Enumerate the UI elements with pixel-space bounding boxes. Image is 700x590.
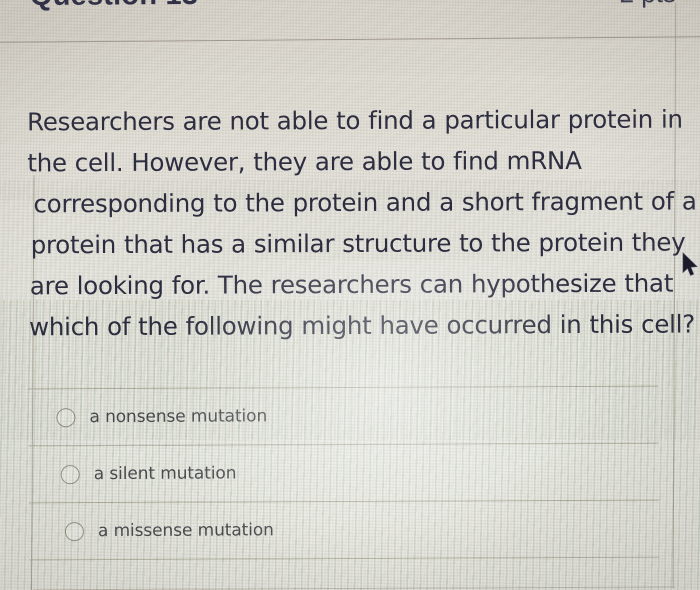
answer-option-nonsense-mutation[interactable]: a nonsense mutation (28, 386, 658, 446)
answer-options-list: a nonsense mutation a silent mutation a … (28, 386, 659, 561)
answer-option-missense-mutation[interactable]: a missense mutation (29, 500, 659, 561)
answer-option-label: a missense mutation (98, 520, 274, 541)
question-line: protein that has a similar structure to … (28, 222, 668, 266)
answer-option-label: a nonsense mutation (89, 406, 267, 427)
question-card: Researchers are not able to find a parti… (5, 43, 677, 590)
card-border-bottom (33, 587, 675, 590)
question-line: Researchers are not able to find a parti… (27, 99, 667, 143)
question-line: corresponding to the protein and a short… (27, 181, 667, 225)
question-prompt: Researchers are not able to find a parti… (27, 99, 668, 348)
radio-unchecked-icon[interactable] (61, 465, 80, 484)
screen-photo: Question 13 2 pts Researchers are not ab… (0, 0, 700, 590)
question-line: which of the following might have occurr… (28, 304, 668, 348)
question-line: the cell. However, they are able to find… (27, 140, 667, 184)
card-border-right (673, 3, 677, 589)
question-number-label: Question 13 (30, 0, 198, 13)
question-line: are looking for. The researchers can hyp… (28, 263, 668, 307)
radio-unchecked-icon[interactable] (56, 408, 75, 427)
question-points-label: 2 pts (619, 0, 676, 9)
answer-option-silent-mutation[interactable]: a silent mutation (29, 443, 659, 503)
answer-option-label: a silent mutation (94, 463, 237, 484)
radio-unchecked-icon[interactable] (65, 522, 84, 541)
question-header: Question 13 2 pts (0, 0, 700, 38)
